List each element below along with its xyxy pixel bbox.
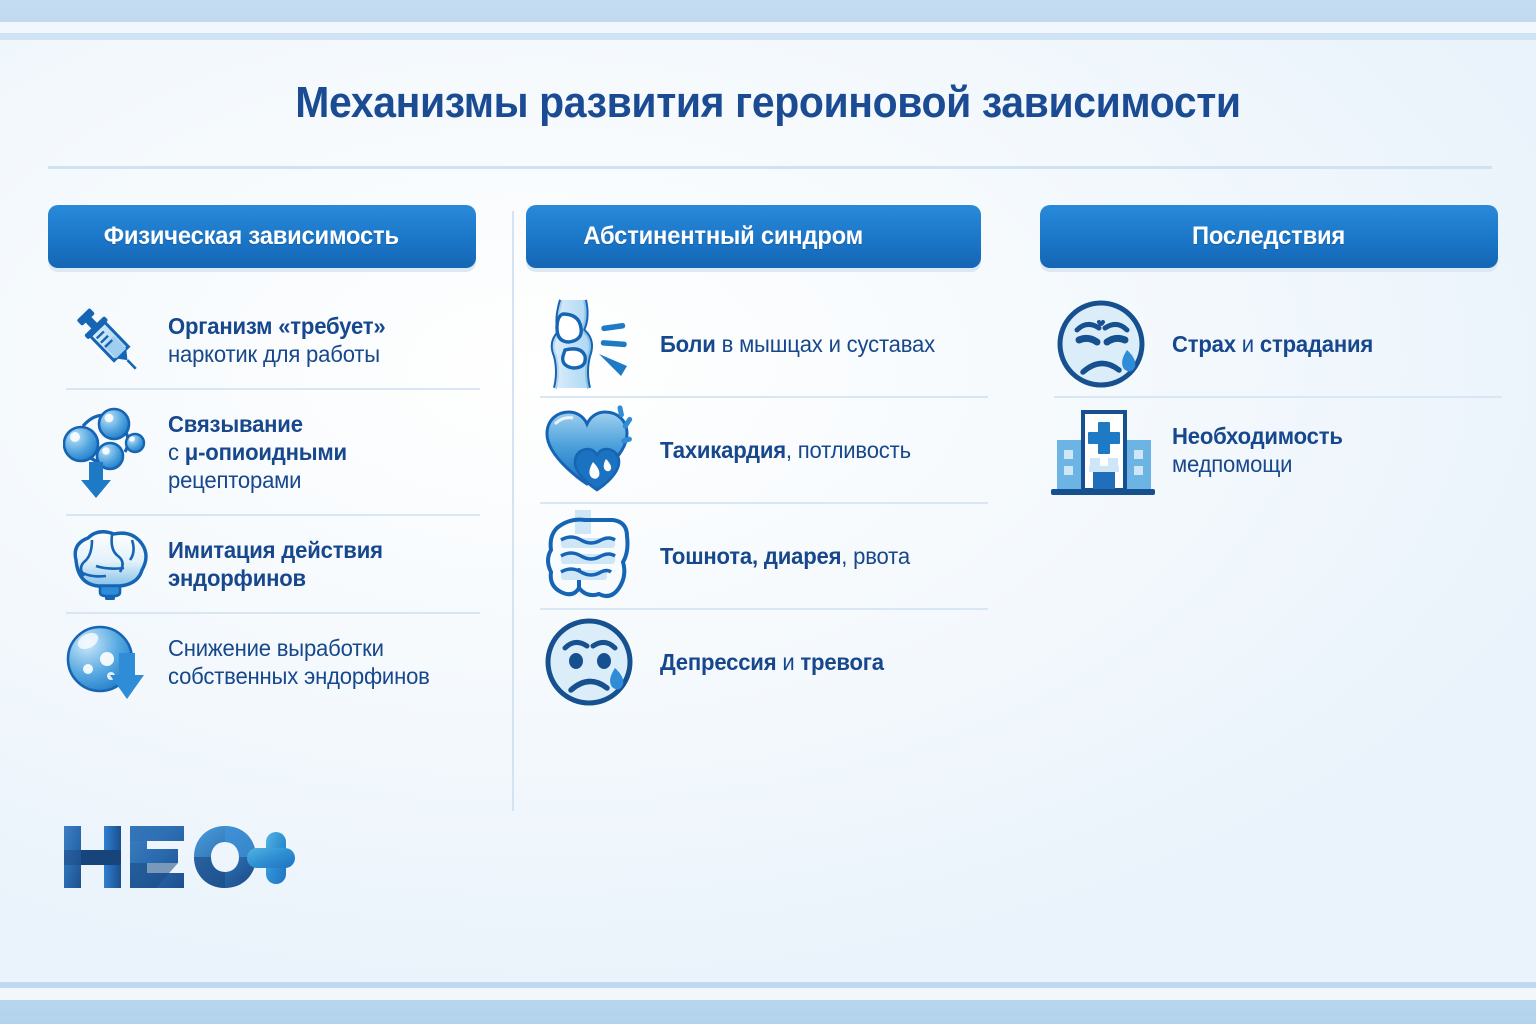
column-physical-dependence: Физическая зависимость	[48, 205, 500, 825]
list-item[interactable]: Необходимость медпомощи	[1040, 398, 1510, 502]
item-regular-text: Снижение выработки	[168, 635, 384, 661]
items-list-withdrawal-syndrome: Боли в мышцах и суставах	[526, 292, 1006, 714]
item-bold-text-2: μ-опиоидными	[185, 439, 347, 465]
knee-joint-icon	[536, 296, 646, 392]
item-regular-text: наркотик для работы	[168, 341, 380, 367]
list-item[interactable]: Организм «требует» наркотик для работы	[48, 292, 500, 388]
list-item-label: Депрессия и тревога	[660, 648, 884, 676]
endorphin-decrease-icon	[60, 619, 156, 705]
items-list-consequences: Страх и страдания	[1040, 292, 1510, 502]
item-regular-text: рецепторами	[168, 467, 301, 493]
item-bold-text-2: тревога	[800, 649, 883, 675]
intestines-icon	[536, 508, 646, 604]
item-bold-text-2: эндорфинов	[168, 565, 306, 591]
list-item[interactable]: Страх и страдания	[1040, 292, 1510, 396]
divider-col-1	[500, 205, 526, 825]
infographic-content: Механизмы развития героиновой зависимост…	[0, 0, 1536, 1024]
column-header-consequences[interactable]: Последствия	[1040, 205, 1498, 268]
brain-icon	[60, 521, 156, 607]
list-item-label: Организм «требует» наркотик для работы	[168, 312, 385, 368]
sad-face-tear-icon	[1048, 296, 1158, 392]
item-bold-text: Тошнота, диарея	[660, 543, 841, 569]
item-regular-text: , рвота	[841, 543, 910, 569]
list-item-label: Связывание с μ-опиоидными рецепторами	[168, 410, 347, 494]
list-item[interactable]: Депрессия и тревога	[526, 610, 1006, 714]
list-item[interactable]: Имитация действия эндорфинов	[48, 516, 500, 612]
list-item-label: Тошнота, диарея, рвота	[660, 542, 910, 570]
divider-col-2	[1006, 205, 1040, 825]
list-item[interactable]: Снижение выработки собственных эндорфино…	[48, 614, 500, 710]
list-item-label: Необходимость медпомощи	[1172, 422, 1343, 478]
list-item-label: Снижение выработки собственных эндорфино…	[168, 634, 430, 690]
item-bold-text-2: страдания	[1260, 331, 1373, 357]
heart-sweat-icon	[536, 402, 646, 498]
item-regular-text: , потливость	[786, 437, 911, 463]
item-regular-text-2: собственных эндорфинов	[168, 663, 430, 689]
item-bold-text: Боли	[660, 331, 716, 357]
item-regular-text: медпомощи	[1172, 451, 1292, 477]
logo-neo-plus[interactable]	[60, 818, 300, 896]
item-bold-text: Необходимость	[1172, 423, 1343, 449]
item-regular-text: и	[776, 649, 800, 675]
item-regular-prefix: с	[168, 439, 185, 465]
hospital-icon	[1048, 402, 1158, 498]
item-bold-text: Имитация действия	[168, 537, 383, 563]
columns-container: Физическая зависимость	[48, 205, 1492, 825]
column-header-label: Последствия	[1192, 222, 1345, 251]
item-bold-text: Депрессия	[660, 649, 776, 675]
list-item-label: Тахикардия, потливость	[660, 436, 911, 464]
page-title: Механизмы развития героиновой зависимост…	[54, 78, 1482, 128]
items-list-physical-dependence: Организм «требует» наркотик для работы	[48, 292, 500, 710]
item-regular-text: и	[1236, 331, 1260, 357]
column-withdrawal-syndrome: Абстинентный синдром	[526, 205, 1006, 825]
item-bold-text: Страх	[1172, 331, 1236, 357]
sad-face-tear-icon	[536, 614, 646, 710]
item-bold-text: Организм «требует»	[168, 313, 385, 339]
item-regular-text: в мышцах и суставах	[716, 331, 935, 357]
column-consequences: Последствия	[1040, 205, 1510, 825]
list-item[interactable]: Боли в мышцах и суставах	[526, 292, 1006, 396]
vertical-divider	[512, 211, 514, 811]
list-item-label: Страх и страдания	[1172, 330, 1373, 358]
item-bold-text: Связывание	[168, 411, 303, 437]
title-divider	[48, 166, 1492, 169]
column-header-withdrawal-syndrome[interactable]: Абстинентный синдром	[526, 205, 981, 268]
list-item-label: Боли в мышцах и суставах	[660, 330, 935, 358]
list-item[interactable]: Связывание с μ-опиоидными рецепторами	[48, 390, 500, 514]
item-bold-text: Тахикардия	[660, 437, 786, 463]
molecule-binding-icon	[60, 409, 156, 495]
column-header-label: Физическая зависимость	[104, 222, 399, 251]
list-item[interactable]: Тошнота, диарея, рвота	[526, 504, 1006, 608]
list-item-label: Имитация действия эндорфинов	[168, 536, 383, 592]
syringe-icon	[60, 297, 156, 383]
column-header-physical-dependence[interactable]: Физическая зависимость	[48, 205, 476, 268]
list-item[interactable]: Тахикардия, потливость	[526, 398, 1006, 502]
column-header-label: Абстинентный синдром	[583, 222, 863, 251]
